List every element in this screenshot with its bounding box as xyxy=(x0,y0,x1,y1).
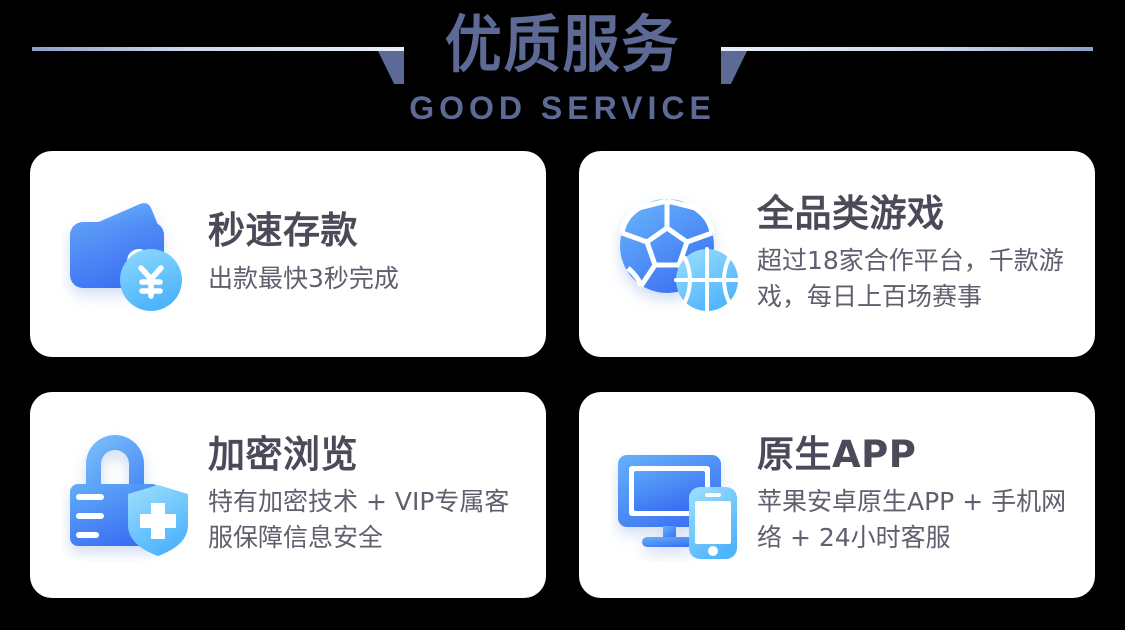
feature-card-native-app[interactable]: 原生APP 苹果安卓原生APP + 手机网络 + 24小时客服 xyxy=(579,392,1095,598)
card-title: 秒速存款 xyxy=(208,211,399,252)
feature-card-instant-deposit[interactable]: 秒速存款 出款最快3秒完成 xyxy=(30,151,546,357)
soccer-basketball-icon-svg xyxy=(611,188,743,320)
feature-card-text: 秒速存款 出款最快3秒完成 xyxy=(208,211,411,296)
card-description: 特有加密技术 + VIP专属客服保障信息安全 xyxy=(208,484,534,555)
card-title: 原生APP xyxy=(757,435,1083,476)
feature-card-text: 全品类游戏 超过18家合作平台，千款游戏，每日上百场赛事 xyxy=(757,194,1095,315)
feature-card-grid: 秒速存款 出款最快3秒完成 xyxy=(30,151,1095,598)
page-header: 优质服务 GOOD SERVICE xyxy=(0,0,1125,150)
card-description: 超过18家合作平台，千款游戏，每日上百场赛事 xyxy=(757,243,1083,314)
monitor-phone-icon xyxy=(611,429,743,561)
feature-card-text: 原生APP 苹果安卓原生APP + 手机网络 + 24小时客服 xyxy=(757,435,1095,556)
feature-card-encrypted-browsing[interactable]: 加密浏览 特有加密技术 + VIP专属客服保障信息安全 xyxy=(30,392,546,598)
header-text-block: 优质服务 GOOD SERVICE xyxy=(0,0,1125,124)
wallet-yen-icon-svg xyxy=(62,188,194,320)
lock-shield-icon-svg xyxy=(62,429,194,561)
feature-card-all-games[interactable]: 全品类游戏 超过18家合作平台，千款游戏，每日上百场赛事 xyxy=(579,151,1095,357)
card-title: 全品类游戏 xyxy=(757,194,1083,235)
wallet-yen-icon xyxy=(62,188,194,320)
card-description: 出款最快3秒完成 xyxy=(208,261,399,297)
card-description: 苹果安卓原生APP + 手机网络 + 24小时客服 xyxy=(757,484,1083,555)
page-subtitle: GOOD SERVICE xyxy=(0,92,1125,124)
page-title: 优质服务 xyxy=(45,14,1080,76)
card-title: 加密浏览 xyxy=(208,435,534,476)
feature-card-text: 加密浏览 特有加密技术 + VIP专属客服保障信息安全 xyxy=(208,435,546,556)
soccer-basketball-icon xyxy=(611,188,743,320)
monitor-phone-icon-svg xyxy=(611,429,743,561)
lock-shield-icon xyxy=(62,429,194,561)
